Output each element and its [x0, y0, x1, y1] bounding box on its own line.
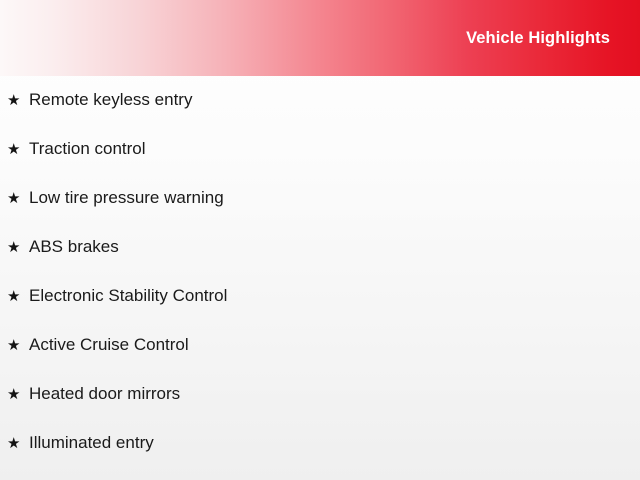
vehicle-highlights-page: Vehicle Highlights ★ Remote keyless entr… — [0, 0, 640, 480]
star-icon: ★ — [7, 436, 29, 451]
star-icon: ★ — [7, 387, 29, 402]
list-item: ★ Traction control — [0, 125, 640, 174]
list-item: ★ ABS brakes — [0, 223, 640, 272]
list-item: ★ Heated door mirrors — [0, 370, 640, 419]
vehicle-highlights-list: ★ Remote keyless entry ★ Traction contro… — [0, 76, 640, 468]
list-item-label: Traction control — [29, 139, 146, 159]
page-title: Vehicle Highlights — [466, 0, 610, 76]
star-icon: ★ — [7, 93, 29, 108]
star-icon: ★ — [7, 191, 29, 206]
list-item-label: Illuminated entry — [29, 433, 154, 453]
star-icon: ★ — [7, 142, 29, 157]
list-item: ★ Low tire pressure warning — [0, 174, 640, 223]
header-banner: Vehicle Highlights — [0, 0, 640, 76]
list-item-label: ABS brakes — [29, 237, 119, 257]
list-item-label: Remote keyless entry — [29, 90, 192, 110]
list-item-label: Low tire pressure warning — [29, 188, 224, 208]
star-icon: ★ — [7, 240, 29, 255]
list-item: ★ Remote keyless entry — [0, 76, 640, 125]
star-icon: ★ — [7, 289, 29, 304]
list-item-label: Electronic Stability Control — [29, 286, 227, 306]
star-icon: ★ — [7, 338, 29, 353]
list-item-label: Heated door mirrors — [29, 384, 180, 404]
list-item: ★ Active Cruise Control — [0, 321, 640, 370]
list-item: ★ Electronic Stability Control — [0, 272, 640, 321]
list-item: ★ Illuminated entry — [0, 419, 640, 468]
list-item-label: Active Cruise Control — [29, 335, 189, 355]
